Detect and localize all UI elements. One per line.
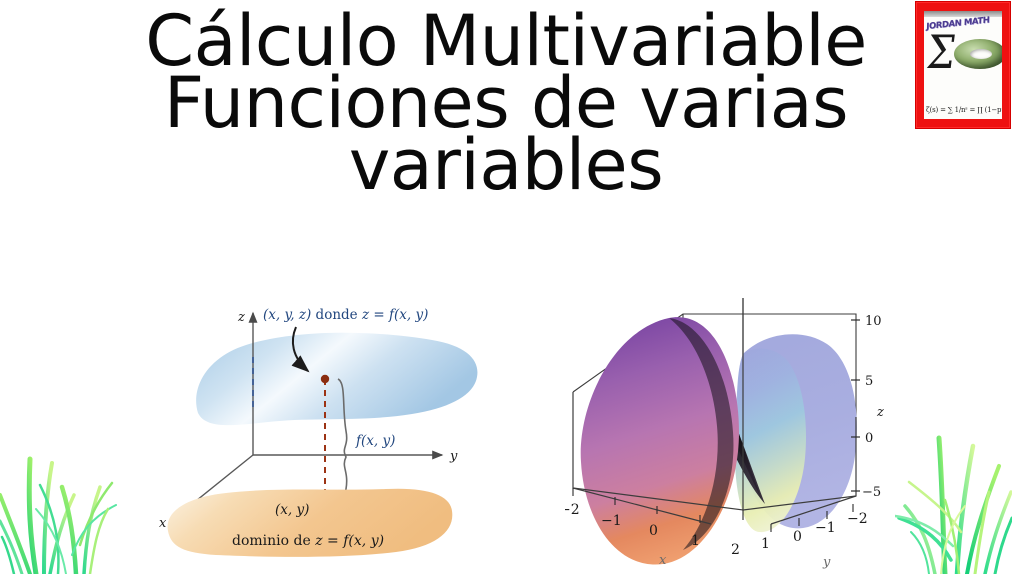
book-cover-badge: JORDAN MATH Σ ζ(s) = ∑ 1/nˢ = ∏ (1−p⁻ˢ)⁻… <box>915 1 1011 129</box>
page-title: Cálculo Multivariable Funciones de varia… <box>0 8 1012 200</box>
grass-right-decoration <box>895 420 1012 574</box>
point-annotation-label: (x, y, z) donde z = f(x, y) <box>263 307 428 323</box>
x-tick-0: 0 <box>649 523 658 539</box>
title-line-1: Cálculo Multivariable <box>0 8 1012 76</box>
x-tick-minus1: −1 <box>601 513 622 529</box>
book-cover-inner: JORDAN MATH Σ ζ(s) = ∑ 1/nˢ = ∏ (1−p⁻ˢ)⁻… <box>924 11 1002 119</box>
height-label: f(x, y) <box>355 433 395 449</box>
z-tick-0: 0 <box>865 431 873 446</box>
axis-label-z: z <box>876 405 884 420</box>
saddle-surface-plot: 10 5 0 −5 z −2 −1 0 1 2 x <box>565 292 910 574</box>
x-tick-1: 1 <box>691 533 700 549</box>
y-tick-0: 0 <box>793 529 802 545</box>
axis-label-y: y <box>822 555 831 570</box>
z-tick-5: 5 <box>865 374 873 389</box>
book-cover-formula: ζ(s) = ∑ 1/nˢ = ∏ (1−p⁻ˢ)⁻¹ <box>926 106 1000 114</box>
surface-point-marker <box>321 375 329 383</box>
surface-blob <box>196 333 477 425</box>
axis-label-z: z <box>237 310 245 325</box>
axis-label-x: x <box>659 553 667 568</box>
axis-label-x: x <box>159 516 167 531</box>
slide-canvas: Cálculo Multivariable Funciones de varia… <box>0 0 1012 574</box>
surface-lobe-right <box>735 334 857 532</box>
y-tick-minus2: −2 <box>847 511 868 527</box>
grass-left-decoration <box>0 425 132 574</box>
x-tick-2: 2 <box>731 542 740 558</box>
y-tick-1: 1 <box>761 536 770 552</box>
axis-label-y: y <box>449 449 458 464</box>
grass-blades <box>0 459 116 574</box>
z-tick-10: 10 <box>865 314 882 329</box>
x-tick-minus2: −2 <box>565 502 580 518</box>
domain-point-label: (x, y) <box>275 502 309 518</box>
y-tick-minus1: −1 <box>815 520 836 536</box>
domain-caption: dominio de z = f(x, y) <box>232 533 384 549</box>
z-tick-minus5: −5 <box>862 485 881 500</box>
title-line-3: variables <box>0 132 1012 200</box>
grass-blades <box>895 438 1012 574</box>
torus-surface-icon <box>954 39 1002 69</box>
title-line-2: Funciones de varias <box>0 70 1012 138</box>
function-of-two-variables-diagram: z y x (x, y, z) donde z = f(x, y) f(x, y… <box>150 295 500 574</box>
